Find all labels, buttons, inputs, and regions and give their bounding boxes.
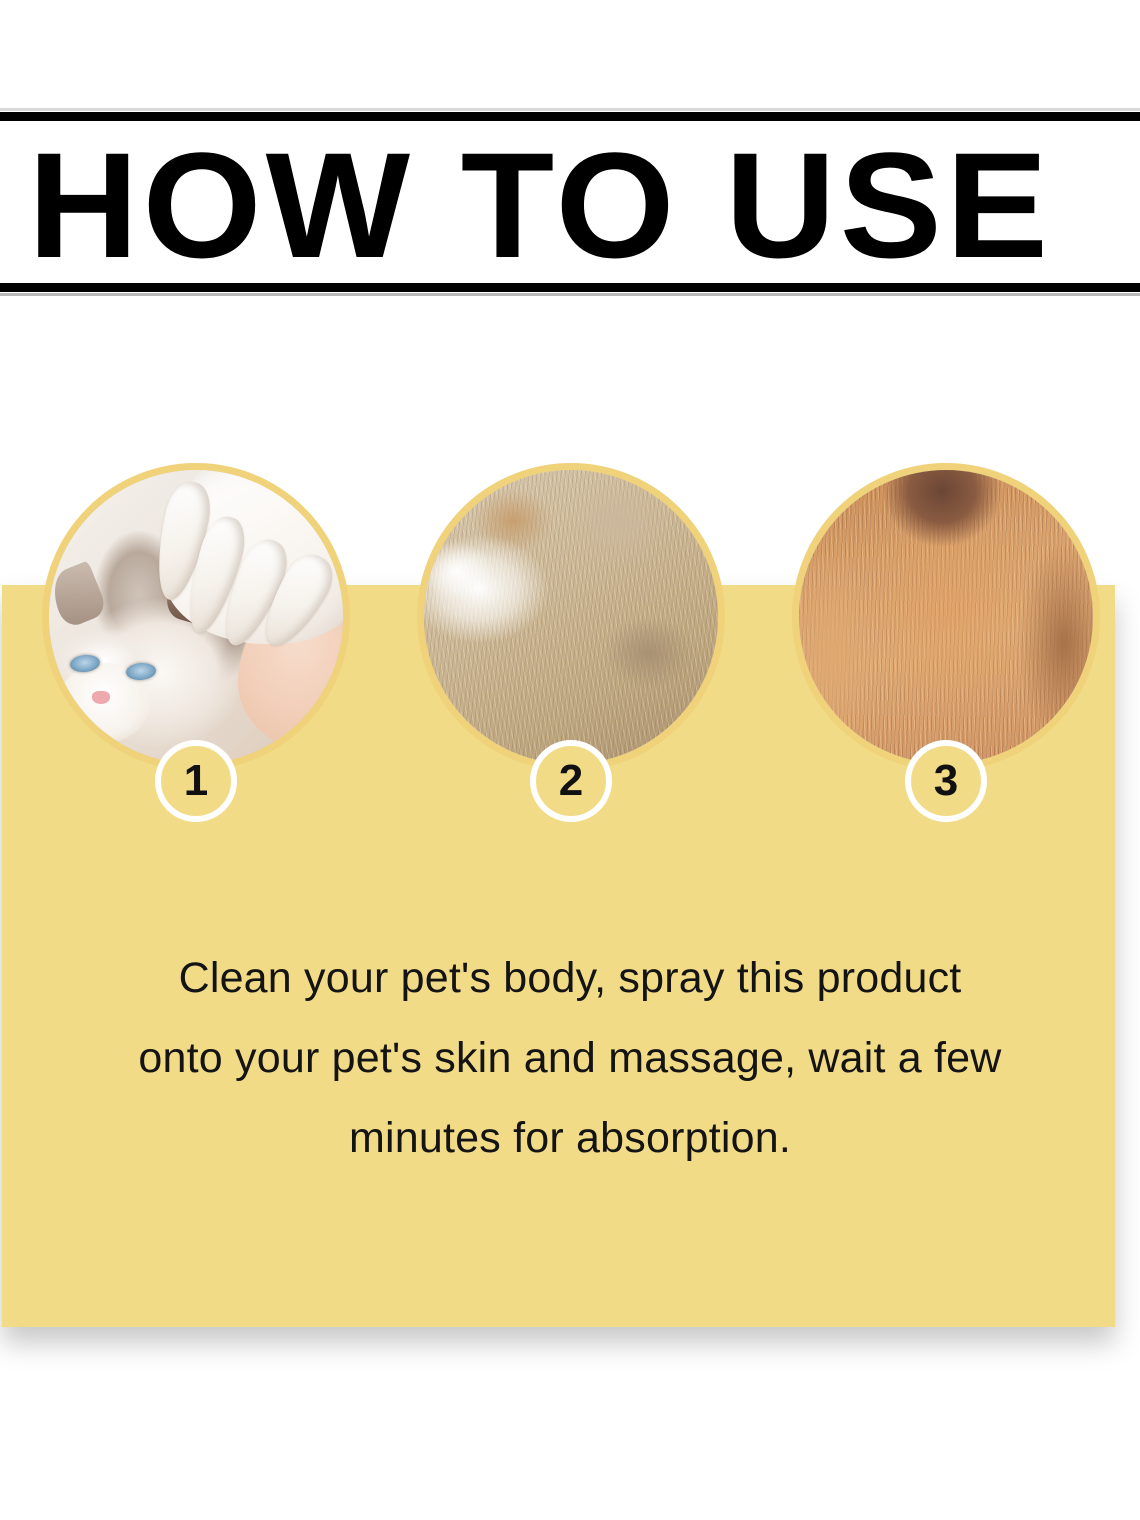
how-to-use-infographic: HOW TO USE (0, 0, 1140, 1520)
instruction-line-3: minutes for absorption. (70, 1098, 1070, 1178)
instruction-line-1: Clean your pet's body, spray this produc… (70, 938, 1070, 1018)
header-banner: HOW TO USE (0, 112, 1140, 292)
page-title: HOW TO USE (28, 115, 1052, 295)
instruction-line-2: onto your pet's skin and massage, wait a… (70, 1018, 1070, 1098)
instruction-text: Clean your pet's body, spray this produc… (70, 938, 1070, 1178)
